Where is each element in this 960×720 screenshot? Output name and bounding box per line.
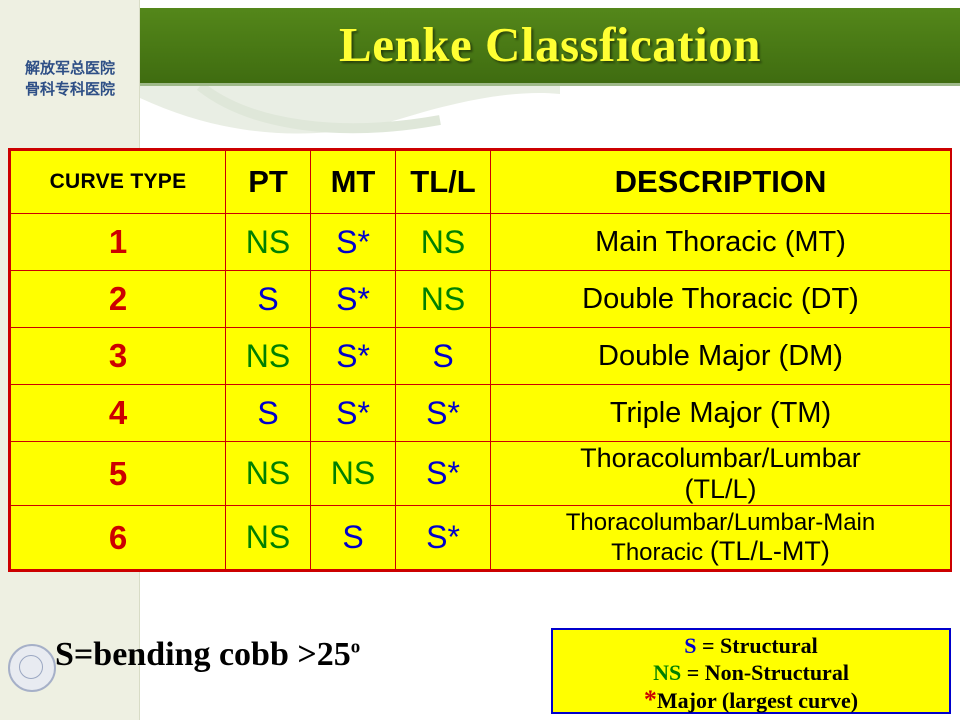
row-6-description-line-2a: Thoracic [611, 539, 710, 566]
row-3-tll: S [396, 328, 491, 385]
row-5-mt: NS [311, 442, 396, 506]
row-2-tll: NS [396, 271, 491, 328]
header-curve-type: CURVE TYPE [11, 151, 226, 214]
hospital-logo-panel: 解放军总医院 骨科专科医院 [0, 0, 140, 145]
lenke-classification-table: CURVE TYPE PT MT TL/L DESCRIPTION 1 NS S… [8, 148, 952, 572]
row-5-tll: S* [396, 442, 491, 506]
legend-nonstructural-key: NS [653, 660, 681, 685]
legend-line-major: *Major (largest curve) [553, 686, 949, 714]
row-5-description-line-1: Thoracolumbar/Lumbar [491, 443, 950, 474]
legend-major-value: Major (largest curve) [657, 688, 858, 713]
row-type-3: 3 [11, 328, 226, 385]
row-4-tll: S* [396, 385, 491, 442]
row-1-pt: NS [226, 214, 311, 271]
row-1-tll: NS [396, 214, 491, 271]
legend-box: S = Structural NS = Non-Structural *Majo… [551, 628, 951, 714]
row-6-description-line-1: Thoracolumbar/Lumbar-Main [491, 508, 950, 537]
hospital-logo-text: 解放军总医院 骨科专科医院 [8, 58, 132, 100]
legend-line-nonstructural: NS = Non-Structural [553, 659, 949, 686]
row-1-description: Main Thoracic (MT) [491, 214, 951, 271]
page-title: Lenke Classfication [140, 12, 960, 78]
row-6-description-line-2b: (TL/L-MT) [710, 536, 830, 566]
legend-structural-value: = Structural [696, 633, 817, 658]
row-1-mt: S* [311, 214, 396, 271]
row-5-pt: NS [226, 442, 311, 506]
header-tll: TL/L [396, 151, 491, 214]
table-row: 6 NS S S* Thoracolumbar/Lumbar-Main Thor… [11, 506, 951, 570]
header-mt: MT [311, 151, 396, 214]
row-4-description: Triple Major (TM) [491, 385, 951, 442]
table-row: 5 NS NS S* Thoracolumbar/Lumbar (TL/L) [11, 442, 951, 506]
row-type-6: 6 [11, 506, 226, 570]
hospital-logo-line-2: 骨科专科医院 [8, 79, 132, 100]
row-6-pt: NS [226, 506, 311, 570]
row-6-tll: S* [396, 506, 491, 570]
bending-cobb-note: S=bending cobb >25o [55, 636, 360, 674]
bending-cobb-note-degree: o [351, 637, 361, 658]
table-row: 4 S S* S* Triple Major (TM) [11, 385, 951, 442]
row-6-mt: S [311, 506, 396, 570]
row-2-pt: S [226, 271, 311, 328]
watermark-seal-icon [8, 644, 56, 692]
table-row: 3 NS S* S Double Major (DM) [11, 328, 951, 385]
legend-line-structural: S = Structural [553, 632, 949, 659]
row-5-description-line-2: (TL/L) [491, 474, 950, 505]
table-row: 1 NS S* NS Main Thoracic (MT) [11, 214, 951, 271]
row-type-5: 5 [11, 442, 226, 506]
row-3-mt: S* [311, 328, 396, 385]
header-description: DESCRIPTION [491, 151, 951, 214]
row-3-pt: NS [226, 328, 311, 385]
row-4-mt: S* [311, 385, 396, 442]
row-type-1: 1 [11, 214, 226, 271]
row-3-description: Double Major (DM) [491, 328, 951, 385]
row-6-description: Thoracolumbar/Lumbar-Main Thoracic (TL/L… [491, 506, 951, 570]
row-2-mt: S* [311, 271, 396, 328]
legend-nonstructural-value: = Non-Structural [681, 660, 849, 685]
legend-major-key: * [644, 685, 657, 714]
row-5-description: Thoracolumbar/Lumbar (TL/L) [491, 442, 951, 506]
row-4-pt: S [226, 385, 311, 442]
row-2-description: Double Thoracic (DT) [491, 271, 951, 328]
row-6-description-line-2: Thoracic (TL/L-MT) [491, 537, 950, 567]
table-row: 2 S S* NS Double Thoracic (DT) [11, 271, 951, 328]
header-pt: PT [226, 151, 311, 214]
decorative-swoosh [140, 86, 560, 148]
bending-cobb-note-text: S=bending cobb >25 [55, 636, 351, 673]
legend-structural-key: S [684, 633, 696, 658]
row-type-4: 4 [11, 385, 226, 442]
hospital-logo-line-1: 解放军总医院 [8, 58, 132, 79]
table-header-row: CURVE TYPE PT MT TL/L DESCRIPTION [11, 151, 951, 214]
row-type-2: 2 [11, 271, 226, 328]
